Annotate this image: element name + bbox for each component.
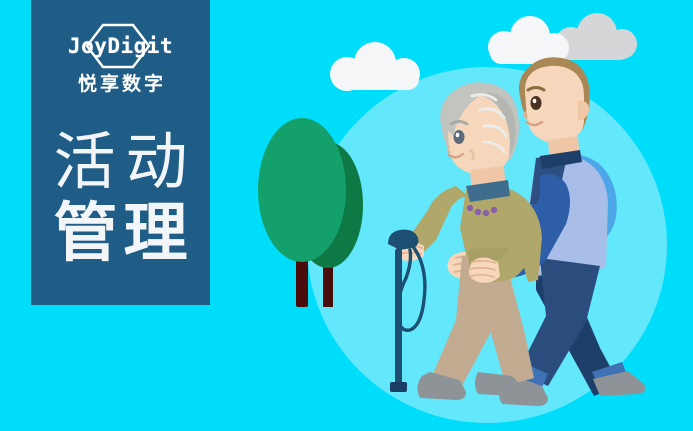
title-banner-panel: JoyDigit 悦享数字 活动 管理: [31, 0, 210, 305]
poster-canvas: JoyDigit 悦享数字 活动 管理: [0, 0, 693, 431]
page-title-line-2: 管理: [31, 198, 210, 268]
logo-subtitle: 悦享数字: [75, 72, 166, 98]
logo-wordmark: JoyDigit: [51, 31, 191, 61]
page-title: 活动 管理: [31, 128, 210, 268]
brand-logo: JoyDigit 悦享数字: [31, 23, 210, 98]
logo-lockup: JoyDigit: [51, 23, 191, 69]
page-title-line-1: 活动: [31, 128, 210, 198]
